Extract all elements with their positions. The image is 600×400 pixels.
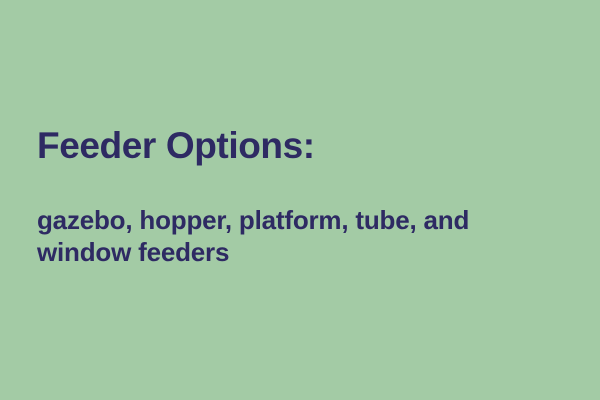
page-title: Feeder Options: <box>37 124 569 168</box>
text-slide: Feeder Options: gazebo, hopper, platform… <box>0 0 600 400</box>
feeder-options-list-text: gazebo, hopper, platform, tube, and wind… <box>37 168 567 268</box>
text-block: Feeder Options: gazebo, hopper, platform… <box>37 124 569 268</box>
